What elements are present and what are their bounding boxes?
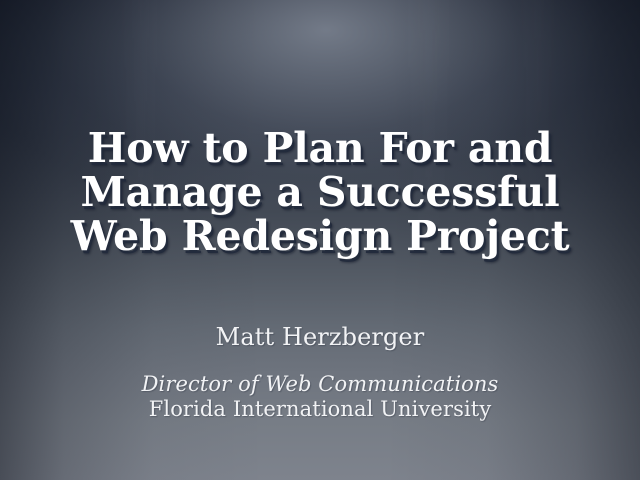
presenter-role: Director of Web Communications	[0, 372, 640, 397]
slide-title: How to Plan For and Manage a Successful …	[0, 126, 640, 258]
slide-title-line-1: How to Plan For and	[0, 126, 640, 170]
slide-title-line-2: Manage a Successful	[0, 170, 640, 214]
presenter-affiliation: Director of Web Communications Florida I…	[0, 372, 640, 422]
slide-content: How to Plan For and Manage a Successful …	[0, 0, 640, 480]
presenter-organization: Florida International University	[0, 397, 640, 422]
slide-title-line-3: Web Redesign Project	[0, 214, 640, 258]
presenter-byline: Matt Herzberger Director of Web Communic…	[0, 322, 640, 422]
presentation-slide: How to Plan For and Manage a Successful …	[0, 0, 640, 480]
presenter-name: Matt Herzberger	[0, 322, 640, 352]
